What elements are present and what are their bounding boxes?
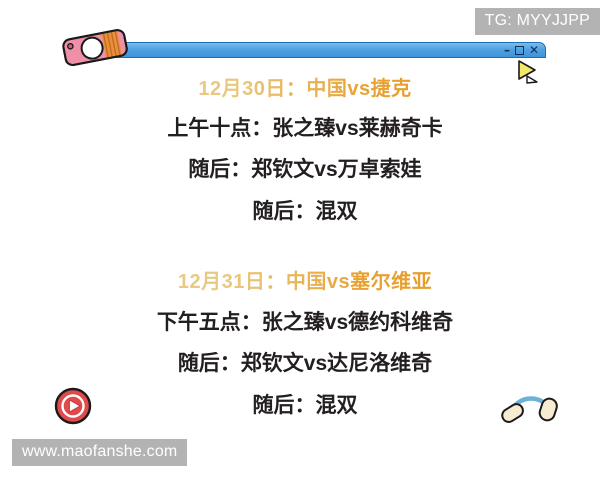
match-block-1-line-3: 随后：混双 [72, 195, 538, 225]
schedule-content: 12月30日：中国vs捷克 上午十点：张之臻vs莱赫奇卡 随后：郑钦文vs万卓索… [72, 60, 538, 400]
match-block-2-line-1: 下午五点：张之臻vs德约科维奇 [72, 306, 538, 336]
match-block-2: 12月31日：中国vs塞尔维亚 下午五点：张之臻vs德约科维奇 随后：郑钦文vs… [72, 265, 538, 419]
telegram-watermark: TG: MYYJJPP [475, 8, 600, 35]
minimize-icon[interactable]: – [504, 44, 510, 56]
match-block-2-line-3: 随后：混双 [72, 389, 538, 419]
site-watermark: www.maofanshe.com [12, 439, 187, 466]
headphones-icon [500, 376, 562, 426]
match-block-1-line-1: 上午十点：张之臻vs莱赫奇卡 [72, 112, 538, 142]
window-titlebar[interactable]: – □ ✕ [96, 42, 546, 58]
match-block-1-line-2: 随后：郑钦文vs万卓索娃 [72, 153, 538, 183]
match-block-1: 12月30日：中国vs捷克 上午十点：张之臻vs莱赫奇卡 随后：郑钦文vs万卓索… [72, 72, 538, 225]
maximize-icon[interactable]: □ [515, 46, 524, 55]
close-icon[interactable]: ✕ [529, 44, 539, 56]
match-block-1-heading: 12月30日：中国vs捷克 [72, 72, 538, 101]
play-button-icon[interactable] [53, 386, 93, 426]
match-block-2-heading: 12月31日：中国vs塞尔维亚 [72, 265, 538, 294]
match-block-2-line-2: 随后：郑钦文vs达尼洛维奇 [72, 347, 538, 377]
